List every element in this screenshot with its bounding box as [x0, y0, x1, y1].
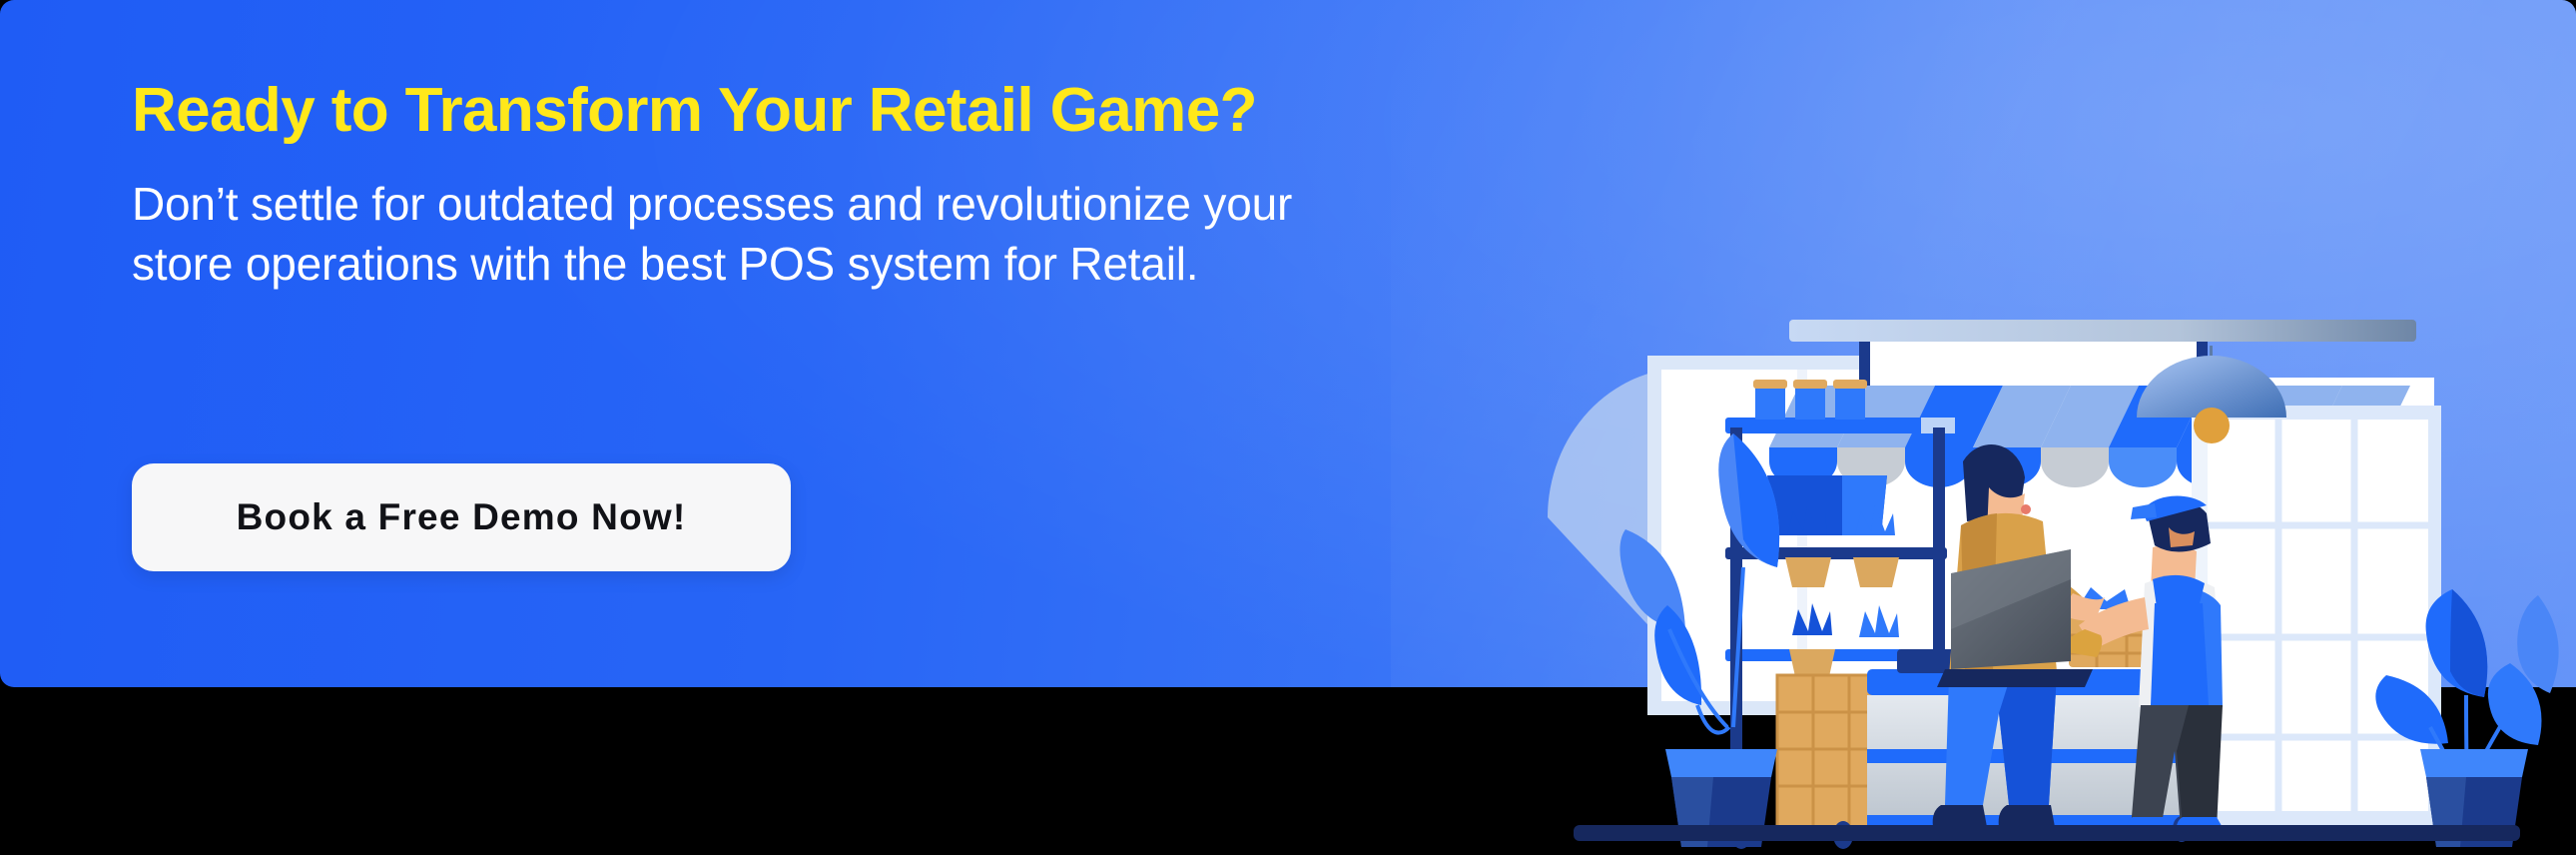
- subcopy-line-2: store operations with the best POS syste…: [132, 234, 1729, 295]
- subcopy-line-1: Don’t settle for outdated processes and …: [132, 174, 1729, 235]
- shelf-cups: [1753, 380, 1867, 420]
- copy-block: Ready to Transform Your Retail Game? Don…: [132, 78, 1769, 295]
- page-title: Ready to Transform Your Retail Game?: [132, 78, 1769, 144]
- book-demo-button[interactable]: Book a Free Demo Now!: [132, 463, 791, 571]
- subcopy: Don’t settle for outdated processes and …: [132, 174, 1729, 295]
- storefront-sign: [1789, 320, 2416, 386]
- cta-banner-stage: Ready to Transform Your Retail Game? Don…: [0, 0, 2576, 855]
- floor-bar: [1574, 825, 2520, 841]
- retail-store-illustration: [1538, 258, 2576, 855]
- window-grid: [2192, 406, 2441, 825]
